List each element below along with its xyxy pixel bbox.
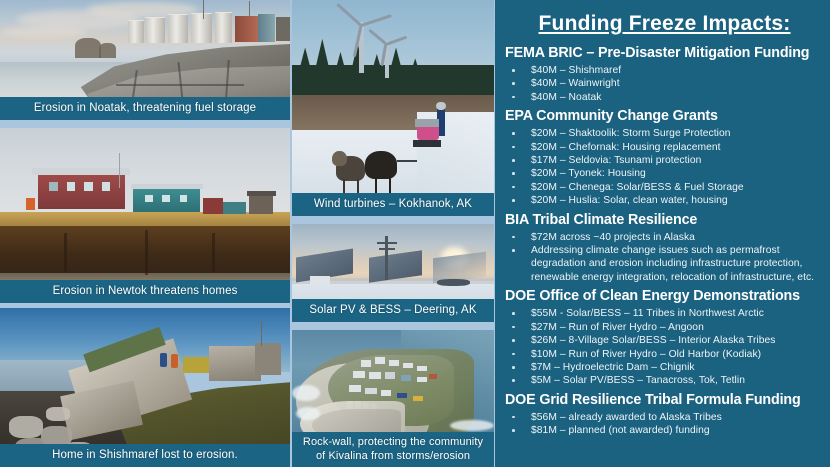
funding-item-label: $20M – Chefornak: Housing replacement (531, 141, 824, 154)
funding-section-heading: FEMA BRIC – Pre-Disaster Mitigation Fund… (505, 45, 824, 62)
photo-tile-deering: Solar PV & BESS – Deering, AK (292, 224, 494, 322)
bullet-icon (512, 146, 515, 149)
funding-item-list: $55M - Solar/BESS – 11 Tribes in Northwe… (505, 307, 824, 387)
funding-section: DOE Grid Resilience Tribal Formula Fundi… (505, 392, 824, 438)
photo-tile-kivalina: Rock-wall, protecting the community of K… (292, 330, 494, 467)
funding-item-label: $7M – Hydroelectric Dam – Chignik (531, 361, 824, 374)
funding-item: $17M – Seldovia: Tsunami protection (505, 154, 824, 167)
funding-section-heading: EPA Community Change Grants (505, 108, 824, 125)
funding-item-label: $72M across ~40 projects in Alaska (531, 231, 824, 244)
funding-item: $40M – Shishmaref (505, 64, 824, 77)
photo-kokhanok-image (292, 0, 494, 216)
funding-item-label: $20M – Tyonek: Housing (531, 167, 824, 180)
bullet-icon (512, 249, 515, 252)
funding-item: $20M – Shaktoolik: Storm Surge Protectio… (505, 127, 824, 140)
funding-item: $40M – Wainwright (505, 77, 824, 90)
funding-item-list: $20M – Shaktoolik: Storm Surge Protectio… (505, 127, 824, 207)
funding-item-label: $20M – Shaktoolik: Storm Surge Protectio… (531, 127, 824, 140)
panel-title: Funding Freeze Impacts: (505, 12, 824, 36)
bullet-icon (512, 199, 515, 202)
bullet-icon (512, 379, 515, 382)
bullet-icon (512, 312, 515, 315)
funding-item-label: $56M – already awarded to Alaska Tribes (531, 411, 824, 424)
bullet-icon (512, 172, 515, 175)
funding-item: $27M – Run of River Hydro – Angoon (505, 321, 824, 334)
funding-item-label: $27M – Run of River Hydro – Angoon (531, 321, 824, 334)
funding-item-list: $40M – Shishmaref$40M – Wainwright$40M –… (505, 64, 824, 104)
funding-section: FEMA BRIC – Pre-Disaster Mitigation Fund… (505, 45, 824, 104)
funding-item-label: $20M – Chenega: Solar/BESS & Fuel Storag… (531, 181, 824, 194)
funding-item: $56M – already awarded to Alaska Tribes (505, 411, 824, 424)
bullet-icon (512, 326, 515, 329)
funding-item: $5M – Solar PV/BESS – Tanacross, Tok, Te… (505, 374, 824, 387)
photo-caption-kokhanok: Wind turbines – Kokhanok, AK (292, 193, 494, 216)
funding-item: $72M across ~40 projects in Alaska (505, 231, 824, 244)
funding-item-label: $40M – Wainwright (531, 77, 824, 90)
funding-item-list: $56M – already awarded to Alaska Tribes$… (505, 411, 824, 438)
funding-item: $20M – Tyonek: Housing (505, 167, 824, 180)
funding-section-heading: BIA Tribal Climate Resilience (505, 212, 824, 229)
funding-item-label: $81M – planned (not awarded) funding (531, 424, 824, 437)
funding-item-label: $20M – Huslia: Solar, clean water, housi… (531, 194, 824, 207)
photo-caption-kivalina-line1: Rock-wall, protecting the community (294, 435, 492, 449)
funding-item: $55M - Solar/BESS – 11 Tribes in Northwe… (505, 307, 824, 320)
funding-impacts-panel: Funding Freeze Impacts: FEMA BRIC – Pre-… (495, 0, 830, 467)
bullet-icon (512, 159, 515, 162)
funding-item: $20M – Chefornak: Housing replacement (505, 141, 824, 154)
photo-newtok-image (0, 128, 290, 303)
photo-caption-kivalina-line2: of Kivalina from storms/erosion (294, 449, 492, 463)
bullet-icon (512, 429, 515, 432)
photo-caption-shishmaref: Home in Shishmaref lost to erosion. (0, 444, 290, 467)
funding-item: $26M – 8-Village Solar/BESS – Interior A… (505, 334, 824, 347)
funding-item-label: $40M – Noatak (531, 91, 824, 104)
photo-caption-noatak: Erosion in Noatak, threatening fuel stor… (0, 97, 290, 120)
photo-tile-shishmaref: Home in Shishmaref lost to erosion. (0, 308, 290, 467)
bullet-icon (512, 82, 515, 85)
funding-item-label: Addressing climate change issues such as… (531, 244, 824, 284)
bullet-icon (512, 416, 515, 419)
funding-item-label: $5M – Solar PV/BESS – Tanacross, Tok, Te… (531, 374, 824, 387)
funding-item-label: $26M – 8-Village Solar/BESS – Interior A… (531, 334, 824, 347)
funding-sections-list: FEMA BRIC – Pre-Disaster Mitigation Fund… (505, 45, 824, 438)
funding-section: EPA Community Change Grants$20M – Shakto… (505, 108, 824, 207)
bullet-icon (512, 353, 515, 356)
funding-item-label: $55M - Solar/BESS – 11 Tribes in Northwe… (531, 307, 824, 320)
slide-canvas: Erosion in Noatak, threatening fuel stor… (0, 0, 830, 467)
funding-item: $81M – planned (not awarded) funding (505, 424, 824, 437)
funding-item-label: $17M – Seldovia: Tsunami protection (531, 154, 824, 167)
photo-caption-newtok: Erosion in Newtok threatens homes (0, 280, 290, 303)
bullet-icon (512, 186, 515, 189)
funding-section: BIA Tribal Climate Resilience$72M across… (505, 212, 824, 285)
funding-section-heading: DOE Grid Resilience Tribal Formula Fundi… (505, 392, 824, 409)
bullet-icon (512, 69, 515, 72)
bullet-icon (512, 236, 515, 239)
bullet-icon (512, 366, 515, 369)
photo-tile-noatak: Erosion in Noatak, threatening fuel stor… (0, 0, 290, 120)
photo-caption-deering: Solar PV & BESS – Deering, AK (292, 299, 494, 322)
bullet-icon (512, 339, 515, 342)
photo-caption-kivalina: Rock-wall, protecting the community of K… (292, 432, 494, 467)
funding-item-label: $40M – Shishmaref (531, 64, 824, 77)
bullet-icon (512, 96, 515, 99)
funding-item: $7M – Hydroelectric Dam – Chignik (505, 361, 824, 374)
funding-section-heading: DOE Office of Clean Energy Demonstration… (505, 288, 824, 305)
funding-item: Addressing climate change issues such as… (505, 244, 824, 284)
funding-item: $20M – Chenega: Solar/BESS & Fuel Storag… (505, 181, 824, 194)
photo-tile-kokhanok: Wind turbines – Kokhanok, AK (292, 0, 494, 216)
photo-tile-newtok: Erosion in Newtok threatens homes (0, 128, 290, 303)
funding-section: DOE Office of Clean Energy Demonstration… (505, 288, 824, 387)
funding-item-label: $10M – Run of River Hydro – Old Harbor (… (531, 348, 824, 361)
bullet-icon (512, 132, 515, 135)
funding-item: $40M – Noatak (505, 91, 824, 104)
funding-item: $20M – Huslia: Solar, clean water, housi… (505, 194, 824, 207)
funding-item: $10M – Run of River Hydro – Old Harbor (… (505, 348, 824, 361)
funding-item-list: $72M across ~40 projects in AlaskaAddres… (505, 231, 824, 285)
